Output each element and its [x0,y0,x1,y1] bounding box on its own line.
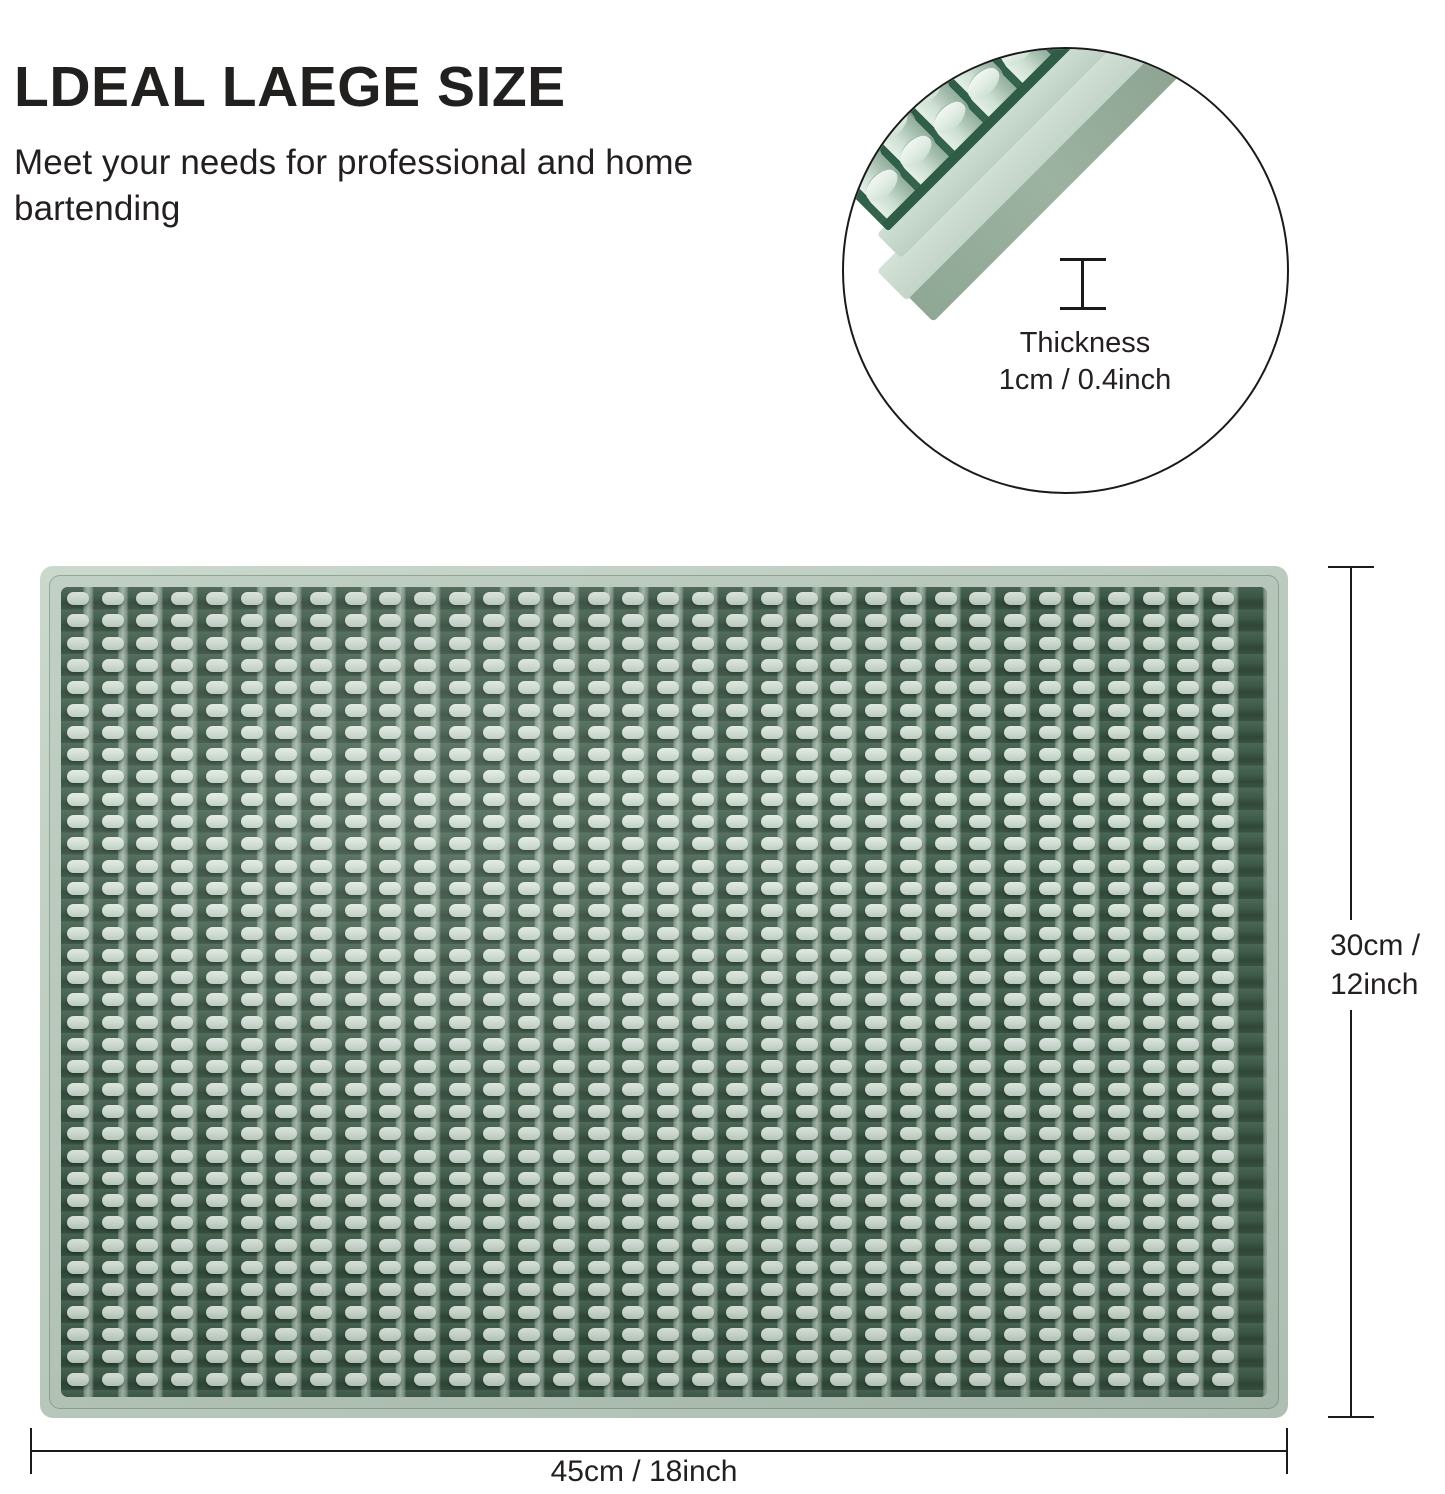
mat-stud [206,971,228,984]
mat-stud [1073,1261,1095,1274]
mat-stud [275,1150,297,1163]
mat-stud [1004,1283,1026,1296]
mat-stud [379,748,401,761]
mat-stud [796,793,818,806]
mat-stud [796,659,818,672]
mat-stud [1212,614,1234,627]
mat-stud [830,681,852,694]
mat-stud [483,1306,505,1319]
mat-stud [171,614,193,627]
mat-stud [692,614,714,627]
mat-stud [1143,949,1165,962]
mat-stud [275,1373,297,1386]
mat-stud [518,704,540,717]
mat-stud [969,1083,991,1096]
mat-stud [1108,949,1130,962]
mat-stud [1177,1328,1199,1341]
mat-stud [136,1216,158,1229]
mat-stud [102,1306,124,1319]
mat-stud [830,837,852,850]
mat-stud [449,904,471,917]
mat-stud [275,793,297,806]
mat-stud [726,681,748,694]
mat-stud [726,815,748,828]
mat-stud [865,770,887,783]
mat-stud [206,748,228,761]
mat-stud [414,1239,436,1252]
mat-stud [275,770,297,783]
mat-stud [67,1060,89,1073]
mat-stud [1143,659,1165,672]
mat-stud [692,637,714,650]
mat-stud [1212,1060,1234,1073]
mat-stud [1177,592,1199,605]
mat-stud [935,748,957,761]
mat-stud [865,949,887,962]
mat-stud [379,815,401,828]
mat-stud [657,904,679,917]
mat-stud [379,793,401,806]
mat-stud [935,860,957,873]
mat-stud [657,1172,679,1185]
mat-stud [449,726,471,739]
mat-stud [830,770,852,783]
mat-stud [1004,1216,1026,1229]
mat-stud [865,1150,887,1163]
mat-stud [1212,927,1234,940]
mat-stud [726,882,748,895]
mat-stud [865,993,887,1006]
height-dimension-label: 30cm / 12inch [1318,920,1445,1010]
mat-stud [1073,770,1095,783]
mat-stud [483,1328,505,1341]
mat-stud [1212,1172,1234,1185]
mat-stud [1143,927,1165,940]
mat-stud [518,592,540,605]
mat-stud [588,614,610,627]
mat-stud [761,815,783,828]
mat-stud [761,1016,783,1029]
mat-stud [1143,1127,1165,1140]
mat-stud [241,1328,263,1341]
mat-stud [1004,637,1026,650]
mat-stud [1073,748,1095,761]
mat-stud [345,927,367,940]
mat-stud [1108,592,1130,605]
mat-stud [830,726,852,739]
mat-stud [345,971,367,984]
mat-stud [310,592,332,605]
mat-stud [449,1373,471,1386]
mat-stud [449,704,471,717]
mat-stud [136,793,158,806]
mat-stud [1212,1373,1234,1386]
mat-stud [206,1150,228,1163]
mat-stud [102,1261,124,1274]
mat-stud [900,1194,922,1207]
mat-stud [796,1060,818,1073]
mat-stud [310,993,332,1006]
mat-stud [1108,726,1130,739]
mat-stud [102,1350,124,1363]
mat-stud [900,1172,922,1185]
mat-stud [1073,1016,1095,1029]
mat-stud [1004,770,1026,783]
mat-stud [935,1306,957,1319]
mat-stud [102,1083,124,1096]
mat-stud [657,1261,679,1274]
mat-stud [1073,1373,1095,1386]
mat-stud [310,1306,332,1319]
mat-stud [241,837,263,850]
mat-stud [622,1150,644,1163]
mat-stud [449,1060,471,1073]
mat-stud [796,904,818,917]
mat-stud [449,1216,471,1229]
mat-stud [1039,1239,1061,1252]
mat-stud [865,815,887,828]
mat-stud [483,837,505,850]
mat-stud [1177,1150,1199,1163]
mat-stud [553,1172,575,1185]
mat-stud [310,704,332,717]
mat-stud [241,860,263,873]
mat-stud [1073,1350,1095,1363]
mat-stud [657,1328,679,1341]
mat-stud [414,904,436,917]
mat-stud [1143,1060,1165,1073]
mat-stud [969,614,991,627]
mat-stud [622,860,644,873]
mat-stud [518,1083,540,1096]
mat-stud [865,1016,887,1029]
mat-stud [518,837,540,850]
mat-stud [518,793,540,806]
mat-stud [483,1105,505,1118]
mat-stud [310,1216,332,1229]
mat-stud [761,659,783,672]
mat-stud [483,949,505,962]
mat-stud [483,748,505,761]
mat-stud [1004,614,1026,627]
mat-stud [241,882,263,895]
mat-stud [1039,1060,1061,1073]
mat-stud [865,1306,887,1319]
mat-stud [900,971,922,984]
mat-stud [483,659,505,672]
mat-stud [449,1194,471,1207]
mat-stud-grid [61,587,1267,1397]
mat-stud [241,1172,263,1185]
mat-stud [1143,1216,1165,1229]
mat-stud [865,1194,887,1207]
mat-stud [518,904,540,917]
mat-stud [935,904,957,917]
mat-stud [588,927,610,940]
mat-stud [102,1283,124,1296]
mat-stud [1004,993,1026,1006]
mat-stud [67,1194,89,1207]
mat-stud [1108,1216,1130,1229]
mat-stud [275,1127,297,1140]
mat-stud [1143,748,1165,761]
mat-stud [761,904,783,917]
mat-stud [206,1306,228,1319]
mat-stud [692,748,714,761]
mat-stud [310,1194,332,1207]
mat-stud [726,614,748,627]
mat-stud [1212,860,1234,873]
mat-stud [692,1306,714,1319]
mat-stud [657,971,679,984]
mat-stud [900,882,922,895]
mat-stud [622,882,644,895]
mat-stud [553,637,575,650]
mat-stud [67,1283,89,1296]
mat-stud [379,1083,401,1096]
mat-stud [379,927,401,940]
mat-stud [657,1350,679,1363]
mat-stud [588,1328,610,1341]
mat-stud [67,1350,89,1363]
mat-stud [726,1172,748,1185]
mat-stud [449,1261,471,1274]
mat-stud [622,681,644,694]
mat-stud [761,1105,783,1118]
mat-stud [67,704,89,717]
mat-stud [726,1105,748,1118]
mat-stud [553,1150,575,1163]
mat-stud [136,993,158,1006]
mat-stud [1004,1060,1026,1073]
mat-stud [553,904,575,917]
mat-stud [241,1016,263,1029]
mat-stud [171,1350,193,1363]
mat-stud [449,815,471,828]
mat-stud [483,971,505,984]
mat-stud [588,659,610,672]
mat-stud [1039,770,1061,783]
mat-stud [171,927,193,940]
mat-stud [692,770,714,783]
mat-stud [483,860,505,873]
mat-recessed-field [61,587,1267,1397]
mat-stud [692,1350,714,1363]
mat-stud [865,1083,887,1096]
mat-stud [553,770,575,783]
mat-stud [518,770,540,783]
mat-stud [136,971,158,984]
mat-stud [518,1150,540,1163]
mat-stud [553,1083,575,1096]
mat-stud [379,1127,401,1140]
mat-stud [935,815,957,828]
mat-stud [622,637,644,650]
mat-stud [67,1239,89,1252]
mat-stud [1212,904,1234,917]
mat-stud [449,1306,471,1319]
mat-stud [310,1060,332,1073]
mat-stud [345,1239,367,1252]
mat-stud [1143,1283,1165,1296]
mat-stud [449,1016,471,1029]
mat-stud [935,681,957,694]
mat-stud [310,1083,332,1096]
mat-stud [553,1038,575,1051]
mat-stud [379,1105,401,1118]
mat-stud [796,860,818,873]
mat-stud [67,1105,89,1118]
mat-stud [657,949,679,962]
mat-stud [414,1038,436,1051]
mat-stud [935,1239,957,1252]
mat-stud [969,837,991,850]
mat-stud [553,681,575,694]
mat-stud [241,637,263,650]
mat-stud [761,1283,783,1296]
mat-stud [414,1127,436,1140]
mat-stud [1073,793,1095,806]
mat-stud [1143,614,1165,627]
mat-stud [414,659,436,672]
mat-stud [1108,614,1130,627]
mat-stud [67,748,89,761]
mat-stud [379,1060,401,1073]
mat-stud [102,726,124,739]
mat-stud [1039,1306,1061,1319]
mat-stud [518,927,540,940]
mat-stud [136,1127,158,1140]
mat-stud [345,815,367,828]
mat-stud [657,793,679,806]
mat-stud [865,904,887,917]
mat-stud [102,860,124,873]
thickness-bar [1081,258,1084,310]
mat-stud [241,971,263,984]
mat-stud [206,1194,228,1207]
mat-stud [67,971,89,984]
mat-stud [796,837,818,850]
mat-stud [1212,993,1234,1006]
mat-stud [935,1150,957,1163]
mat-stud [414,882,436,895]
mat-stud [275,704,297,717]
mat-stud [310,971,332,984]
mat-stud [1177,949,1199,962]
mat-stud [171,1083,193,1096]
mat-stud [275,837,297,850]
mat-stud [969,971,991,984]
mat-stud [1177,1172,1199,1185]
mat-stud [449,1350,471,1363]
mat-stud [241,1306,263,1319]
mat-stud [935,1328,957,1341]
mat-stud [622,971,644,984]
mat-stud [483,1060,505,1073]
mat-stud [379,1239,401,1252]
mat-stud [1143,815,1165,828]
mat-stud [136,1261,158,1274]
mat-stud [206,949,228,962]
mat-stud [865,1350,887,1363]
mat-stud [761,614,783,627]
mat-stud [900,1150,922,1163]
mat-stud [588,815,610,828]
mat-stud [796,704,818,717]
mat-stud [310,1328,332,1341]
mat-stud [483,1038,505,1051]
mat-stud [1177,971,1199,984]
mat-stud [345,860,367,873]
mat-stud [692,1083,714,1096]
mat-stud [935,1283,957,1296]
mat-stud [969,927,991,940]
mat-stud [206,1328,228,1341]
mat-stud [935,637,957,650]
mat-stud [241,1194,263,1207]
mat-stud [414,1261,436,1274]
mat-stud [830,860,852,873]
mat-stud [241,793,263,806]
mat-stud [310,1373,332,1386]
mat-stud [761,927,783,940]
mat-stud [622,1216,644,1229]
mat-stud [969,815,991,828]
mat-stud [1073,837,1095,850]
mat-stud [1073,659,1095,672]
mat-stud [830,1350,852,1363]
mat-stud [761,1328,783,1341]
mat-stud [1073,860,1095,873]
mat-stud [692,659,714,672]
mat-stud [241,592,263,605]
mat-stud [865,1216,887,1229]
mat-stud [67,637,89,650]
mat-stud [1108,770,1130,783]
mat-stud [1039,637,1061,650]
mat-stud [830,1306,852,1319]
mat-stud [483,1016,505,1029]
mat-stud [935,1127,957,1140]
mat-stud [518,1261,540,1274]
mat-stud [969,704,991,717]
mat-stud [345,1016,367,1029]
width-line [30,1450,1288,1452]
mat-stud [657,770,679,783]
mat-stud [1143,726,1165,739]
mat-stud [275,1239,297,1252]
mat-stud [1039,1328,1061,1341]
mat-stud [483,882,505,895]
mat-stud [1177,1083,1199,1096]
mat-stud [761,1038,783,1051]
mat-stud [310,815,332,828]
mat-stud [692,1150,714,1163]
mat-stud [1004,1350,1026,1363]
mat-stud [414,748,436,761]
mat-stud [1039,681,1061,694]
thickness-dimension-icon [1060,258,1106,310]
mat-stud [622,837,644,850]
mat-stud [1004,1328,1026,1341]
mat-stud [171,1261,193,1274]
mat-stud [310,681,332,694]
mat-stud [206,1261,228,1274]
mat-stud [969,1172,991,1185]
mat-stud [692,1127,714,1140]
mat-stud [171,1016,193,1029]
mat-stud [171,882,193,895]
